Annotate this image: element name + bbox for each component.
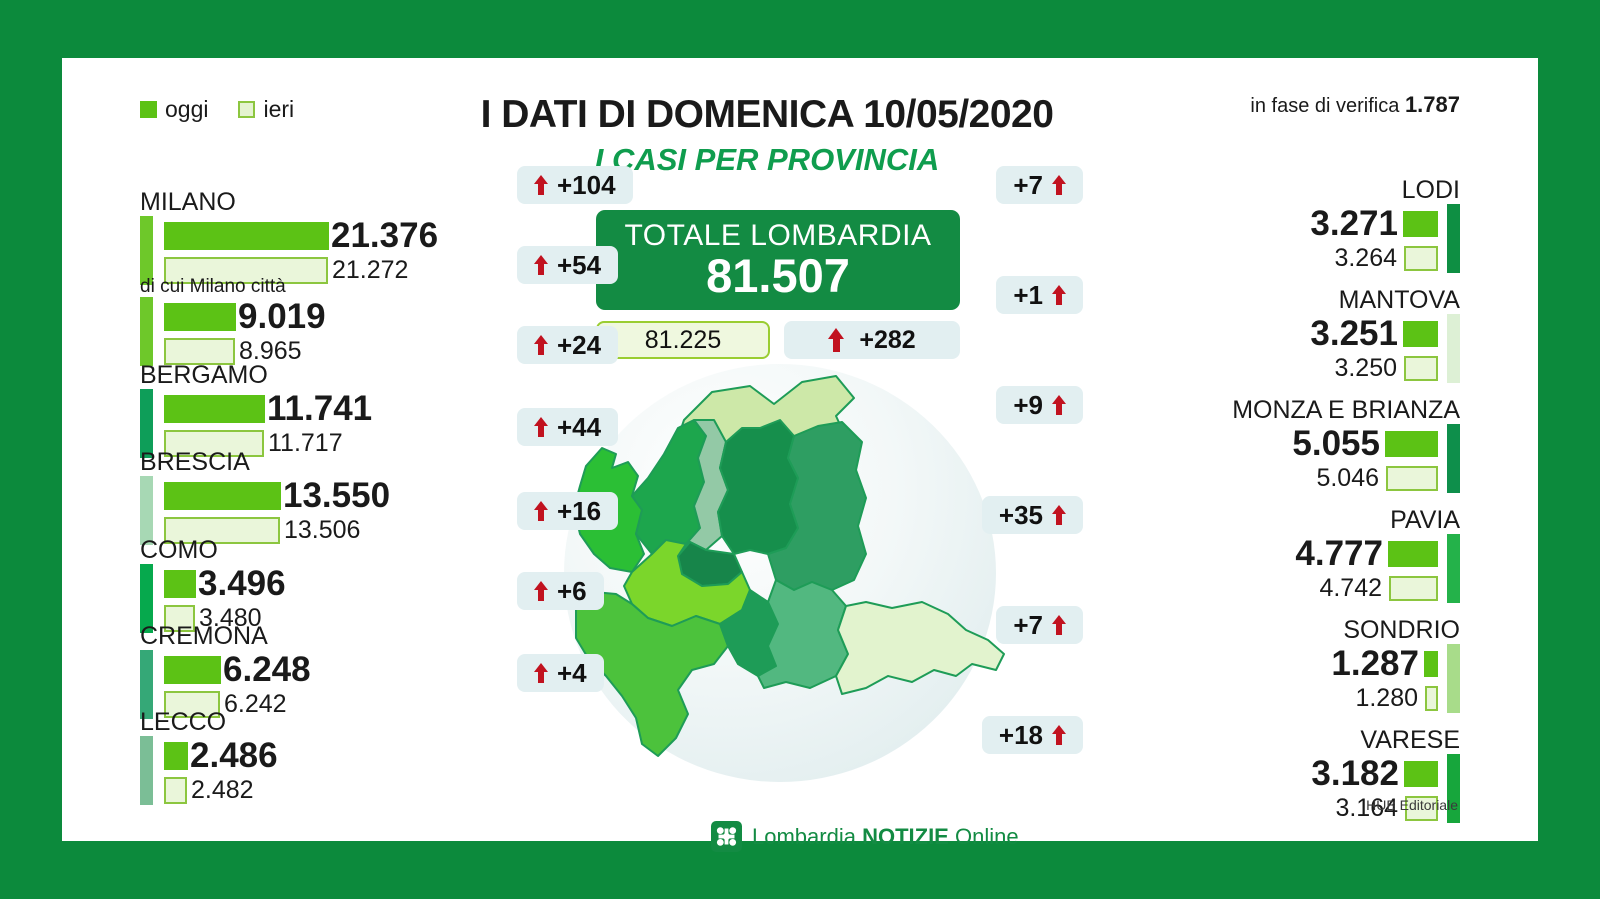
delta-badge-milano: +104	[517, 166, 633, 204]
bar-yesterday-fill	[164, 777, 187, 804]
province-today-value: 3.496	[198, 564, 286, 604]
province-yesterday-value: 3.250	[1334, 354, 1397, 383]
province-color-tick-icon	[140, 297, 153, 366]
province-today-value: 1.287	[1331, 644, 1419, 684]
bar-yesterday: 5.046	[1292, 464, 1438, 493]
total-lombardia-box: TOTALE LOMBARDIA 81.507	[596, 210, 960, 310]
logo-name-3: Online	[955, 824, 1019, 849]
bar-today-fill	[1424, 651, 1438, 677]
delta-value: +1	[1013, 280, 1043, 311]
bar-today: 3.251	[1310, 314, 1438, 354]
province-name: MANTOVA	[1310, 286, 1460, 314]
province-row-brescia: BRESCIA13.55013.506	[140, 448, 390, 545]
total-today-value: 81.507	[706, 251, 850, 300]
bar-today-fill	[164, 482, 281, 510]
delta-badge-como: +16	[517, 492, 618, 530]
delta-value: +9	[1013, 390, 1043, 421]
bar-today: 2.486	[164, 736, 278, 776]
delta-value: +24	[557, 330, 601, 361]
verification-note: in fase di verifica 1.787	[1250, 92, 1460, 118]
arrow-up-icon	[534, 417, 548, 437]
delta-value: +35	[999, 500, 1043, 531]
delta-badge-sondrio: +7	[996, 606, 1083, 644]
legend-label-today: oggi	[165, 96, 208, 123]
bar-yesterday: 4.742	[1295, 574, 1438, 603]
province-today-value: 3.182	[1311, 754, 1399, 794]
bar-today: 1.287	[1331, 644, 1438, 684]
province-today-value: 4.777	[1295, 534, 1383, 574]
province-name: COMO	[140, 536, 286, 564]
province-name: MILANO	[140, 188, 438, 216]
bar-today-fill	[164, 395, 265, 423]
province-color-tick-icon	[1447, 204, 1460, 273]
province-row-pavia: PAVIA4.7774.742	[1295, 506, 1460, 603]
legend: oggi ieri	[140, 96, 294, 123]
bar-yesterday: 2.482	[164, 776, 278, 805]
verification-label: in fase di verifica	[1250, 95, 1399, 117]
bar-today: 9.019	[164, 297, 326, 337]
arrow-up-icon	[534, 175, 548, 195]
arrow-up-icon	[534, 335, 548, 355]
province-color-tick-icon	[140, 736, 153, 805]
arrow-up-icon	[1052, 285, 1066, 305]
bar-today: 6.248	[164, 650, 311, 690]
total-label: TOTALE LOMBARDIA	[625, 220, 932, 252]
province-row-bergamo: BERGAMO11.74111.717	[140, 361, 372, 458]
delta-badge-di-cui-milano-citt-: +54	[517, 246, 618, 284]
delta-badge-lecco: +4	[517, 654, 604, 692]
bar-yesterday-fill	[1386, 466, 1438, 491]
pinwheel-logo-icon	[711, 821, 742, 852]
province-row-lecco: LECCO2.4862.482	[140, 708, 278, 805]
logo-name-1: Lombardia	[752, 824, 856, 849]
delta-badge-pavia: +35	[982, 496, 1083, 534]
delta-badge-mantova: +1	[996, 276, 1083, 314]
bar-yesterday: 3.250	[1310, 354, 1438, 383]
province-today-value: 13.550	[283, 476, 390, 516]
province-yesterday-value: 3.264	[1334, 244, 1397, 273]
bar-today: 3.271	[1310, 204, 1438, 244]
province-name: SONDRIO	[1331, 616, 1460, 644]
province-color-tick-icon	[1447, 534, 1460, 603]
province-name: di cui Milano città	[140, 276, 326, 297]
infographic-root: oggi ieri I DATI DI DOMENICA 10/05/2020 …	[0, 0, 1600, 899]
bar-today-fill	[164, 570, 196, 598]
bar-today: 3.496	[164, 564, 286, 604]
delta-badge-monza-e-brianza: +9	[996, 386, 1083, 424]
arrow-up-icon	[534, 663, 548, 683]
logo-wordmark: Lombardia NOTIZIE Online	[752, 824, 1019, 850]
logo-name-2: NOTIZIE	[862, 824, 949, 849]
white-panel: oggi ieri I DATI DI DOMENICA 10/05/2020 …	[62, 58, 1538, 841]
verification-value: 1.787	[1405, 92, 1460, 117]
delta-value: +18	[999, 720, 1043, 751]
bar-today: 21.376	[164, 216, 438, 256]
arrow-up-icon	[1052, 505, 1066, 525]
delta-badge-varese: +18	[982, 716, 1083, 754]
delta-badge-bergamo: +24	[517, 326, 618, 364]
province-today-value: 11.741	[267, 389, 372, 429]
province-name: CREMONA	[140, 622, 311, 650]
province-row-cremona: CREMONA6.2486.242	[140, 622, 311, 719]
bar-today: 11.741	[164, 389, 372, 429]
province-row-lodi: LODI3.2713.264	[1310, 176, 1460, 273]
province-name: BERGAMO	[140, 361, 372, 389]
province-yesterday-value: 21.272	[332, 256, 408, 285]
province-today-value: 3.251	[1310, 314, 1398, 354]
province-today-value: 9.019	[238, 297, 326, 337]
legend-swatch-yesterday-icon	[238, 101, 255, 118]
map-region-bergamo	[718, 420, 798, 554]
province-row-sondrio: SONDRIO1.2871.280	[1331, 616, 1460, 713]
province-yesterday-value: 5.046	[1316, 464, 1379, 493]
arrow-up-icon	[1052, 395, 1066, 415]
province-row-milano: MILANO21.37621.272	[140, 188, 438, 285]
delta-value: +7	[1013, 170, 1043, 201]
province-name: VARESE	[1311, 726, 1460, 754]
bar-yesterday: 3.264	[1310, 244, 1438, 273]
legend-label-yesterday: ieri	[263, 96, 294, 123]
delta-value: +16	[557, 496, 601, 527]
province-color-tick-icon	[140, 476, 153, 545]
bar-today-fill	[164, 742, 188, 770]
province-name: BRESCIA	[140, 448, 390, 476]
bar-today-fill	[1403, 321, 1438, 347]
legend-swatch-today-icon	[140, 101, 157, 118]
legend-item-yesterday: ieri	[238, 96, 294, 123]
province-today-value: 5.055	[1292, 424, 1380, 464]
delta-value: +7	[1013, 610, 1043, 641]
province-row-mantova: MANTOVA3.2513.250	[1310, 286, 1460, 383]
map-region-mantova	[836, 602, 1004, 694]
bar-today-fill	[1403, 211, 1438, 237]
delta-value: +104	[557, 170, 616, 201]
arrow-up-icon	[534, 581, 548, 601]
province-today-value: 2.486	[190, 736, 278, 776]
bar-yesterday-fill	[1425, 686, 1438, 711]
bar-yesterday-fill	[1389, 576, 1438, 601]
delta-badge-brescia: +44	[517, 408, 618, 446]
total-yesterday-value: 81.225	[645, 326, 721, 355]
lombardia-notizie-logo: Lombardia NOTIZIE Online	[711, 821, 1019, 852]
bar-yesterday: 1.280	[1331, 684, 1438, 713]
province-row-di-cui-milano-citt-: di cui Milano città9.0198.965	[140, 276, 326, 366]
bar-today: 3.182	[1311, 754, 1438, 794]
legend-item-today: oggi	[140, 96, 208, 123]
province-today-value: 21.376	[331, 216, 438, 256]
arrow-up-icon	[828, 328, 845, 352]
total-delta-badge: +282	[784, 321, 960, 359]
total-yesterday-box: 81.225	[596, 321, 770, 359]
province-color-tick-icon	[140, 216, 153, 285]
arrow-up-icon	[1052, 175, 1066, 195]
footer-credit: HUB Editoriale	[1366, 797, 1458, 813]
province-row-como: COMO3.4963.480	[140, 536, 286, 633]
delta-value: +54	[557, 250, 601, 281]
province-yesterday-value: 1.280	[1355, 684, 1418, 713]
province-today-value: 6.248	[223, 650, 311, 690]
bar-today-fill	[1385, 431, 1438, 457]
bar-today: 5.055	[1292, 424, 1438, 464]
province-today-value: 3.271	[1310, 204, 1398, 244]
delta-value: +4	[557, 658, 587, 689]
province-name: PAVIA	[1295, 506, 1460, 534]
province-yesterday-value: 13.506	[284, 516, 360, 545]
bar-today-fill	[1388, 541, 1438, 567]
bar-today: 4.777	[1295, 534, 1438, 574]
province-yesterday-value: 4.742	[1319, 574, 1382, 603]
delta-badge-cremona: +6	[517, 572, 604, 610]
page-title: I DATI DI DOMENICA 10/05/2020	[417, 93, 1117, 137]
bar-yesterday-fill	[1404, 246, 1438, 271]
province-color-tick-icon	[1447, 644, 1460, 713]
bar-today-fill	[164, 222, 329, 250]
bar-today-fill	[164, 656, 221, 684]
delta-value: +44	[557, 412, 601, 443]
arrow-up-icon	[534, 501, 548, 521]
delta-badge-lodi: +7	[996, 166, 1083, 204]
province-color-tick-icon	[1447, 424, 1460, 493]
arrow-up-icon	[1052, 615, 1066, 635]
province-name: MONZA E BRIANZA	[1232, 396, 1460, 424]
bar-today-fill	[164, 303, 236, 331]
bar-today: 13.550	[164, 476, 390, 516]
bar-yesterday-fill	[1404, 356, 1438, 381]
province-row-monza-e-brianza: MONZA E BRIANZA5.0555.046	[1232, 396, 1460, 493]
province-yesterday-value: 2.482	[191, 776, 254, 805]
total-delta-value: +282	[859, 326, 915, 355]
arrow-up-icon	[534, 255, 548, 275]
province-color-tick-icon	[1447, 314, 1460, 383]
arrow-up-icon	[1052, 725, 1066, 745]
province-name: LODI	[1310, 176, 1460, 204]
province-name: LECCO	[140, 708, 278, 736]
bar-today-fill	[1404, 761, 1438, 787]
delta-value: +6	[557, 576, 587, 607]
